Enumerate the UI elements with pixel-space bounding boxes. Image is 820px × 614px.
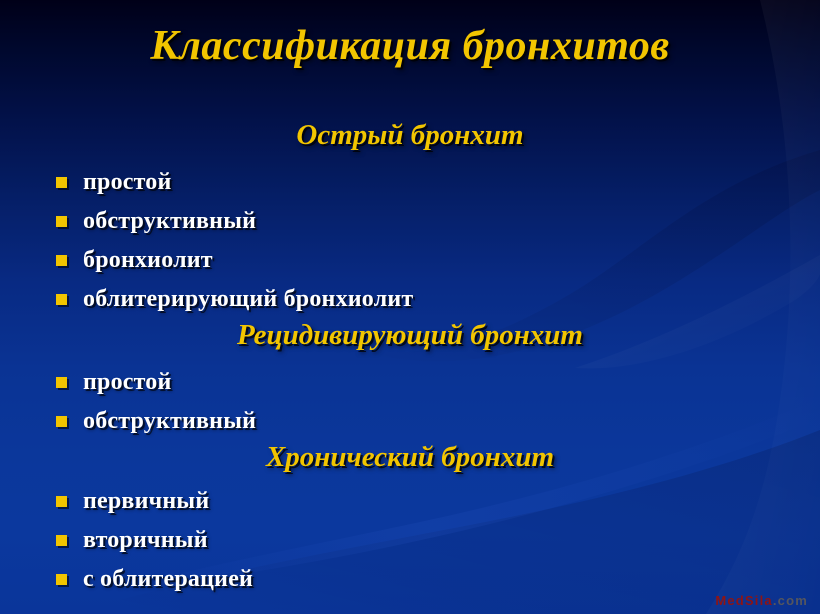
- square-bullet-icon: [56, 416, 67, 427]
- page-title: Классификация бронхитов: [0, 22, 820, 70]
- list-item: первичный: [56, 482, 253, 521]
- square-bullet-icon: [56, 177, 67, 188]
- watermark-site-name: MedSila: [715, 593, 773, 608]
- section-heading-acute-bronchitis: Острый бронхит: [0, 119, 820, 152]
- list-item-label: обструктивный: [83, 408, 256, 435]
- list-item-label: первичный: [83, 488, 209, 515]
- list-item: облитерирующий бронхиолит: [56, 280, 413, 319]
- list-item-label: простой: [83, 369, 172, 396]
- list-item-label: обструктивный: [83, 208, 256, 235]
- square-bullet-icon: [56, 216, 67, 227]
- bullet-list-chronic-bronchitis: первичный вторичный с облитерацией: [56, 482, 253, 599]
- square-bullet-icon: [56, 255, 67, 266]
- square-bullet-icon: [56, 377, 67, 388]
- list-item: простой: [56, 363, 256, 402]
- list-item-label: облитерирующий бронхиолит: [83, 286, 413, 313]
- square-bullet-icon: [56, 535, 67, 546]
- square-bullet-icon: [56, 496, 67, 507]
- watermark-site-tld: .com: [773, 593, 808, 608]
- list-item: простой: [56, 163, 413, 202]
- section-heading-chronic-bronchitis: Хронический бронхит: [0, 441, 820, 474]
- list-item: бронхиолит: [56, 241, 413, 280]
- watermark: MedSila.com: [715, 593, 808, 608]
- square-bullet-icon: [56, 294, 67, 305]
- list-item-label: вторичный: [83, 527, 208, 554]
- bullet-list-recurrent-bronchitis: простой обструктивный: [56, 363, 256, 441]
- bullet-list-acute-bronchitis: простой обструктивный бронхиолит облитер…: [56, 163, 413, 319]
- section-heading-recurrent-bronchitis: Рецидивирующий бронхит: [0, 319, 820, 352]
- list-item: вторичный: [56, 521, 253, 560]
- list-item-label: бронхиолит: [83, 247, 213, 274]
- list-item: с облитерацией: [56, 560, 253, 599]
- list-item: обструктивный: [56, 402, 256, 441]
- square-bullet-icon: [56, 574, 67, 585]
- list-item-label: простой: [83, 169, 172, 196]
- presentation-slide: Классификация бронхитов Острый бронхит п…: [0, 0, 820, 614]
- list-item: обструктивный: [56, 202, 413, 241]
- list-item-label: с облитерацией: [83, 566, 253, 593]
